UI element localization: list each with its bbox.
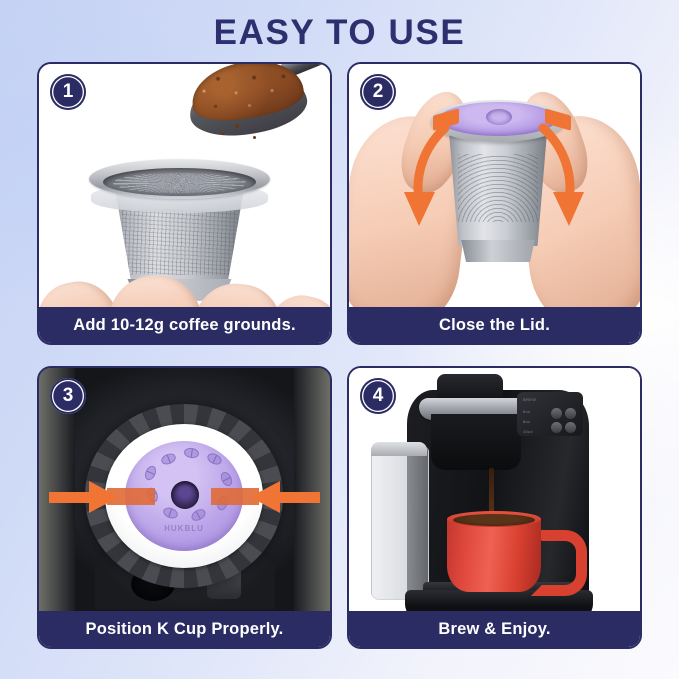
step-3-image: HUKBLU 3 [39, 368, 330, 611]
water-reservoir [371, 446, 429, 600]
power-button[interactable] [565, 422, 576, 433]
k-cup-lid-knob [486, 109, 512, 125]
brewer-dispensing-head [431, 414, 521, 470]
brew-size-button[interactable] [565, 408, 576, 419]
coffee-crumb [235, 124, 239, 128]
coffee-crumb [221, 132, 224, 135]
brewer-control-panel[interactable]: BREW 6oz 8oz 10oz [517, 392, 583, 436]
step-card-4: BREW 6oz 8oz 10oz 4 Brew & Enjoy. [347, 366, 642, 649]
step-1-image: 1 [39, 64, 330, 307]
step-card-1: 1 Add 10-12g coffee grounds. [37, 62, 332, 345]
arrow-right-icon [49, 481, 119, 513]
arrow-left-icon [250, 481, 320, 513]
hand-holding-basket [39, 276, 330, 307]
step-caption-1: Add 10-12g coffee grounds. [39, 307, 330, 343]
coffee-surface [453, 514, 535, 526]
water-reservoir-cap [371, 442, 427, 456]
k-cup-base [458, 240, 538, 262]
step-caption-3: Position K Cup Properly. [39, 611, 330, 647]
lid-brand-text: HUKBLU [149, 524, 219, 533]
step-card-3: HUKBLU 3 Position K Cup Properly. [37, 366, 332, 649]
coffee-crumb [253, 136, 256, 139]
control-label-brew: BREW [523, 397, 536, 402]
control-label-10oz: 10oz [523, 429, 533, 434]
step-caption-4: Brew & Enjoy. [349, 611, 640, 647]
control-label-6oz: 6oz [523, 409, 530, 414]
step-number-badge-3: 3 [50, 378, 86, 414]
step-card-2: 2 Close the Lid. [347, 62, 642, 345]
finger [105, 274, 205, 307]
lid-center-hole [171, 481, 199, 509]
brew-size-button[interactable] [551, 422, 562, 433]
control-label-8oz: 8oz [523, 419, 530, 424]
step-number-badge-1: 1 [50, 74, 86, 110]
curved-arrow-down-right-icon [517, 122, 587, 232]
promo-infographic: EASY TO USE 1 [0, 0, 679, 679]
finger [189, 280, 287, 307]
brewer-lid-handle [437, 374, 503, 400]
step-number-badge-4: 4 [360, 378, 396, 414]
red-mug [447, 516, 541, 592]
step-caption-2: Close the Lid. [349, 307, 640, 343]
page-title: EASY TO USE [0, 12, 679, 54]
step-4-image: BREW 6oz 8oz 10oz 4 [349, 368, 640, 611]
basket-mesh-screen [113, 173, 246, 193]
brew-size-button[interactable] [551, 408, 562, 419]
step-2-image: 2 [349, 64, 640, 307]
step-number-badge-2: 2 [360, 74, 396, 110]
curved-arrow-down-left-icon [401, 122, 471, 232]
